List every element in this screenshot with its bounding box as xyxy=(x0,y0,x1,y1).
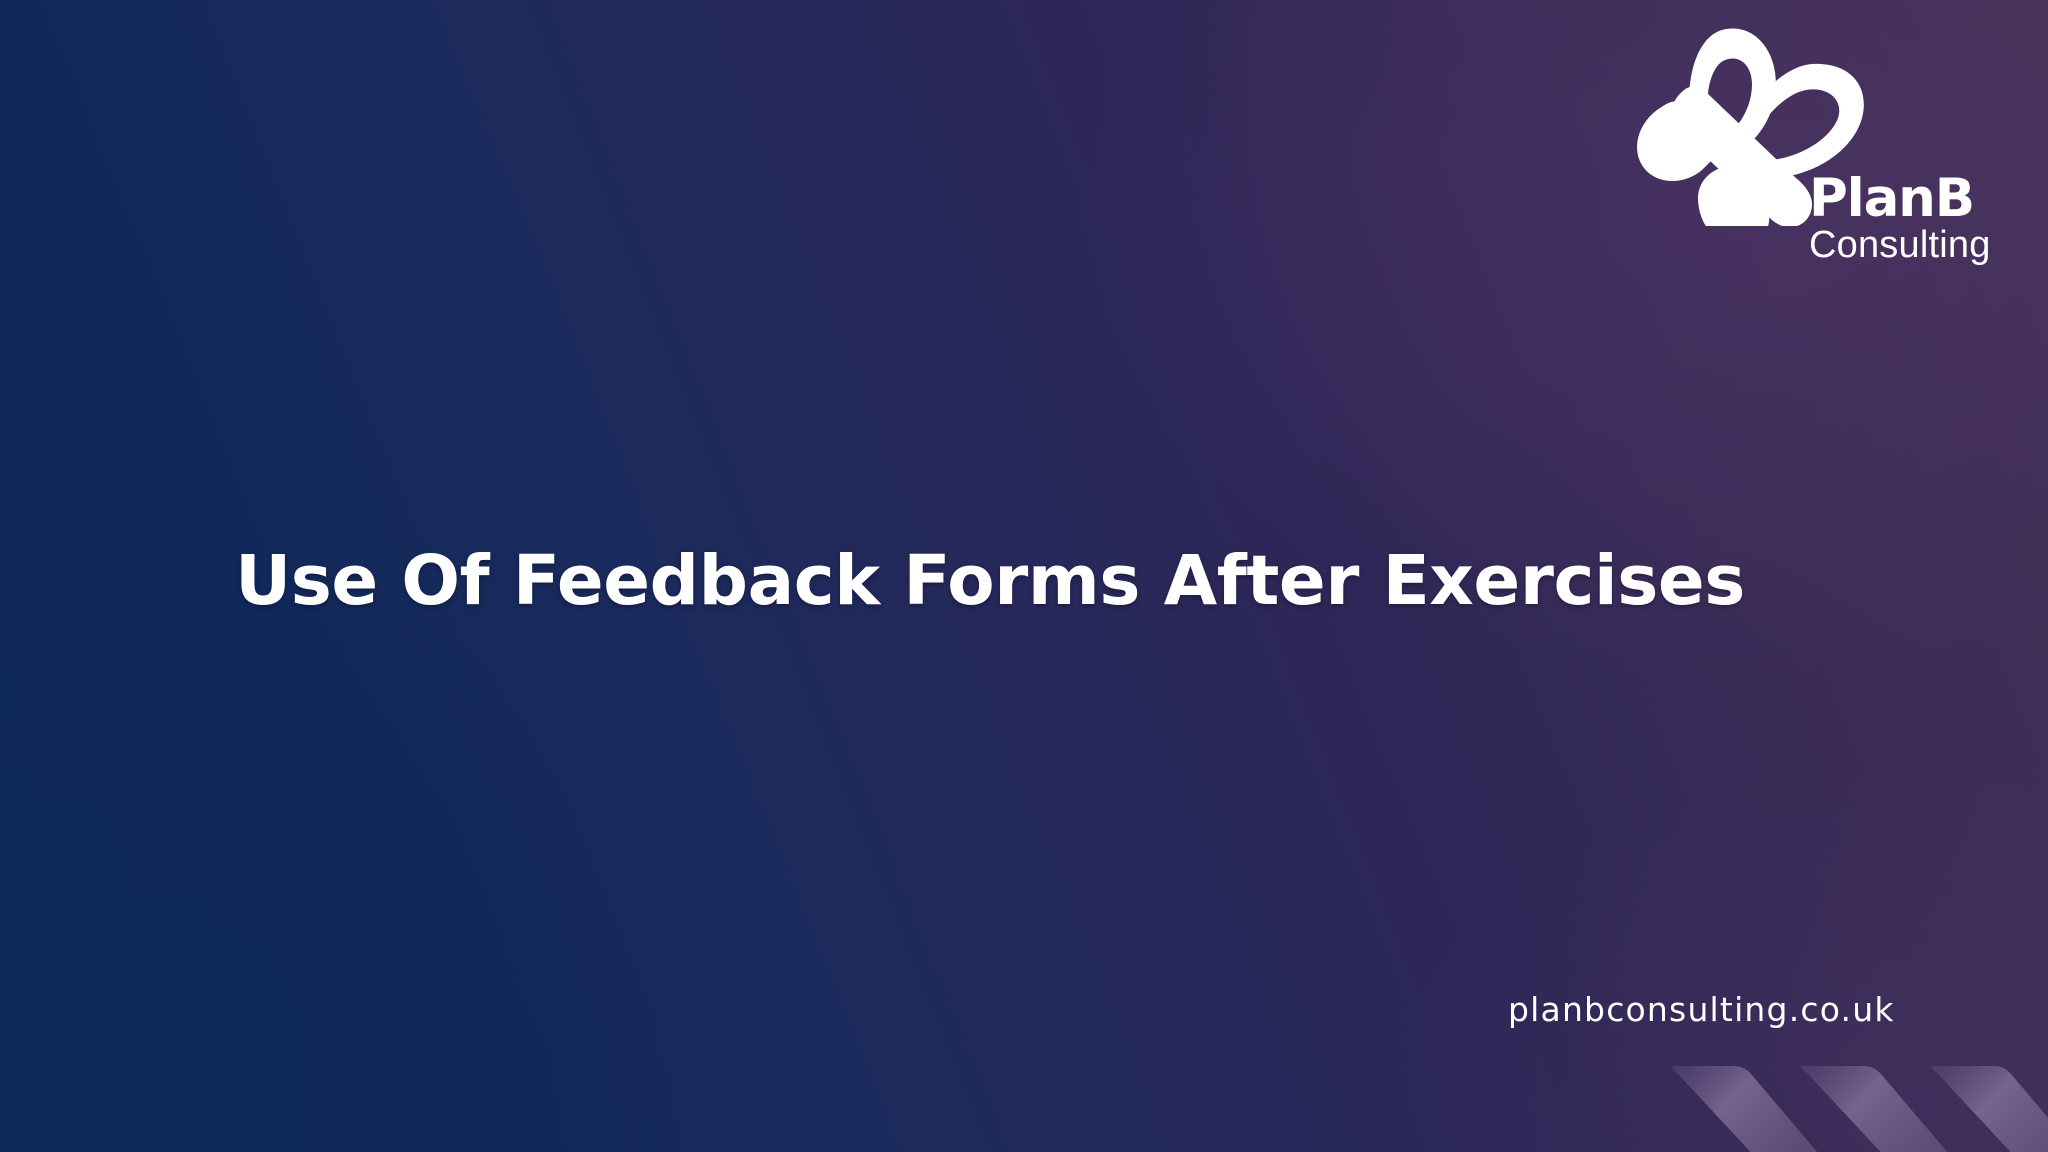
presentation-slide: PlanB Consulting Use Of Feedback Forms A… xyxy=(0,0,2048,1152)
chevron-decoration xyxy=(1648,1032,2048,1152)
slide-title: Use Of Feedback Forms After Exercises xyxy=(0,544,1980,620)
website-url: planbconsulting.co.uk xyxy=(1508,990,1895,1029)
planb-logo: PlanB Consulting xyxy=(1630,26,1960,261)
logo-tagline-text: Consulting xyxy=(1809,226,1989,264)
logo-wordmark: PlanB Consulting xyxy=(1809,174,1989,264)
logo-brand-text: PlanB xyxy=(1809,174,1989,224)
